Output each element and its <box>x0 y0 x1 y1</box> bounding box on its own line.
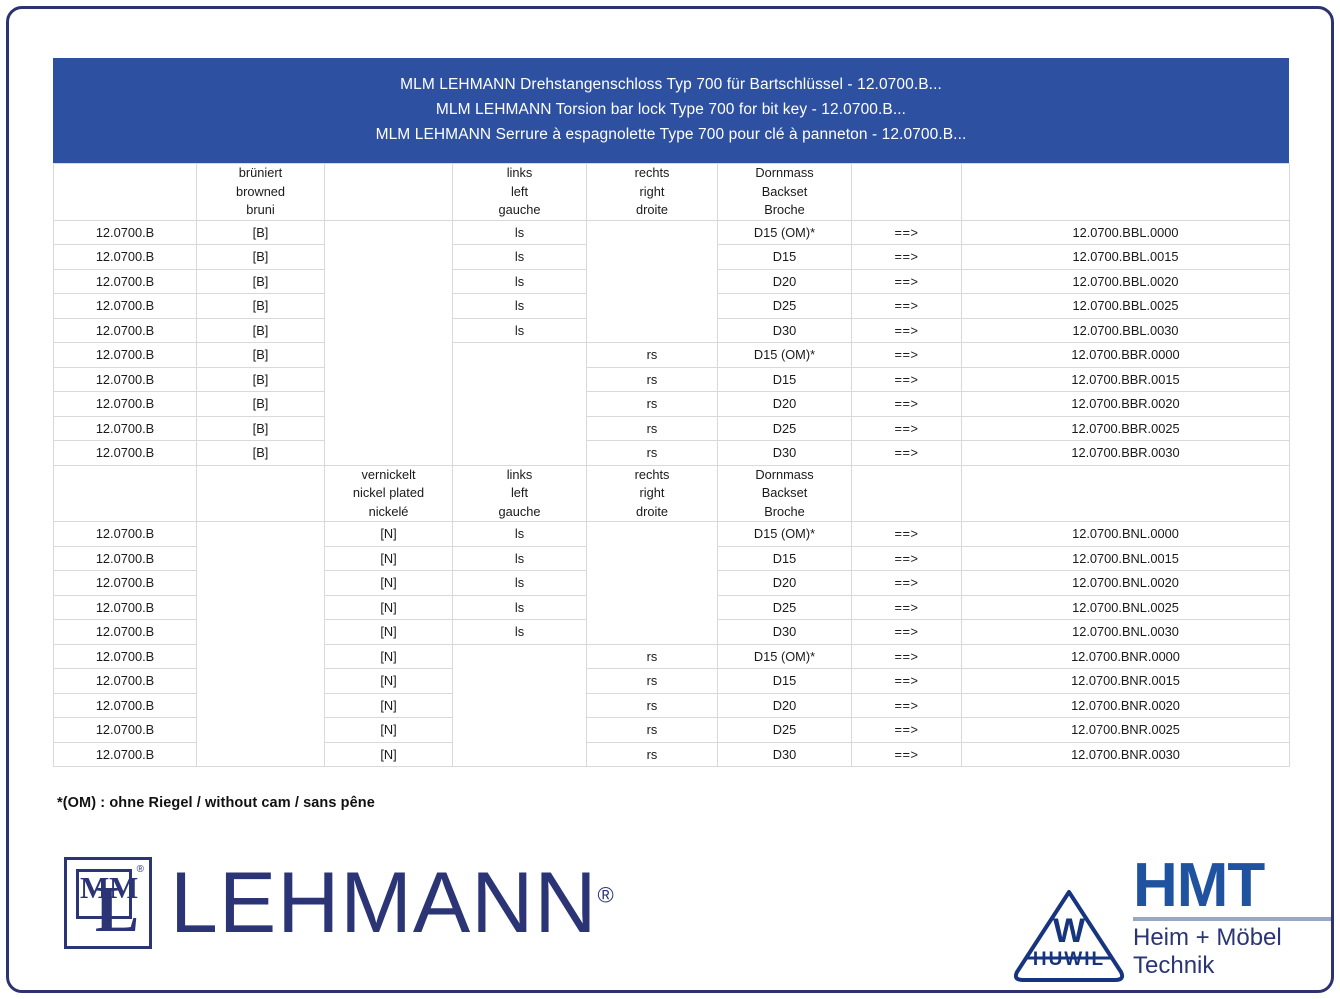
cell-article-number: 12.0700.BBR.0025 <box>962 416 1290 441</box>
cell-backset: D15 <box>718 546 852 571</box>
band-right-en: right <box>587 484 717 503</box>
cell-hand-right: rs <box>587 416 718 441</box>
table-row: 12.0700.B[B]rsD15==>12.0700.BBR.0015 <box>54 367 1290 392</box>
cell-article-number: 12.0700.BNR.0000 <box>962 644 1290 669</box>
cell-finish-code: [N] <box>325 571 453 596</box>
cell-backset: D15 <box>718 367 852 392</box>
cell-article-number: 12.0700.BNR.0020 <box>962 693 1290 718</box>
table-row: 12.0700.B[B]rsD20==>12.0700.BBR.0020 <box>54 392 1290 417</box>
cell-article-number: 12.0700.BBR.0015 <box>962 367 1290 392</box>
cell-base-code: 12.0700.B <box>54 220 197 245</box>
cell-hand-left: ls <box>453 294 587 319</box>
cell-article-number: 12.0700.BNL.0015 <box>962 546 1290 571</box>
cell-hand-left: ls <box>453 269 587 294</box>
cell-article-number: 12.0700.BNL.0020 <box>962 571 1290 596</box>
datasheet: MLM LEHMANN Drehstangenschloss Typ 700 f… <box>53 58 1289 767</box>
band-right-de: rechts <box>587 164 717 183</box>
cell-backset: D25 <box>718 595 852 620</box>
cell-base-code: 12.0700.B <box>54 245 197 270</box>
goto-arrow-button[interactable]: ==> <box>852 441 962 466</box>
band-empty-arrow <box>852 465 962 522</box>
huwil-w-letter: W <box>1009 914 1129 948</box>
product-variant-table: brüniertbrownedbrunilinksleftgaucherecht… <box>53 163 1290 767</box>
cell-hand-right: rs <box>587 742 718 767</box>
cell-finish-code: [N] <box>325 595 453 620</box>
cell-article-number: 12.0700.BBR.0020 <box>962 392 1290 417</box>
band-finish-nickel-fr: nickelé <box>325 503 452 522</box>
table-row: 12.0700.B[B]rsD25==>12.0700.BBR.0025 <box>54 416 1290 441</box>
cell-finish-code: [B] <box>197 441 325 466</box>
cell-hand-right: rs <box>587 693 718 718</box>
cell-base-code: 12.0700.B <box>54 595 197 620</box>
table-row: 12.0700.B[N]lsD15 (OM)*==>12.0700.BNL.00… <box>54 522 1290 547</box>
cell-base-code: 12.0700.B <box>54 392 197 417</box>
cell-base-code: 12.0700.B <box>54 269 197 294</box>
cell-base-code: 12.0700.B <box>54 546 197 571</box>
cell-article-number: 12.0700.BNL.0000 <box>962 522 1290 547</box>
cell-hand-left: ls <box>453 546 587 571</box>
cell-finish-code: [B] <box>197 416 325 441</box>
cell-backset: D30 <box>718 441 852 466</box>
cell-hand-right-empty-block <box>587 522 718 645</box>
cell-finish-empty-block <box>197 522 325 767</box>
band-finish-nickel-de: vernickelt <box>325 466 452 485</box>
cell-hand-left: ls <box>453 595 587 620</box>
title-banner: MLM LEHMANN Drehstangenschloss Typ 700 f… <box>53 58 1289 163</box>
goto-arrow-button[interactable]: ==> <box>852 571 962 596</box>
band-backset-fr: Broche <box>718 503 851 522</box>
cell-backset: D20 <box>718 392 852 417</box>
band-right-en: right <box>587 183 717 202</box>
cell-hand-left: ls <box>453 245 587 270</box>
cell-finish-code: [N] <box>325 718 453 743</box>
cell-article-number: 12.0700.BNR.0025 <box>962 718 1290 743</box>
cell-hand-left-empty-block <box>453 343 587 466</box>
cell-hand-right: rs <box>587 669 718 694</box>
cell-article-number: 12.0700.BBR.0000 <box>962 343 1290 368</box>
cell-backset: D25 <box>718 416 852 441</box>
monogram-registered-icon: ® <box>137 864 144 875</box>
cell-base-code: 12.0700.B <box>54 416 197 441</box>
cell-finish-code: [B] <box>197 220 325 245</box>
lehmann-wordmark-text: LEHMANN <box>170 855 598 951</box>
cell-base-code: 12.0700.B <box>54 693 197 718</box>
cell-finish-code: [B] <box>197 392 325 417</box>
section-header-nickel: vernickeltnickel platednickelélinksleftg… <box>54 465 1290 522</box>
band-left: linksleftgauche <box>453 164 587 221</box>
band-left-fr: gauche <box>453 201 586 220</box>
goto-arrow-button[interactable]: ==> <box>852 693 962 718</box>
band-right: rechtsrightdroite <box>587 465 718 522</box>
cell-hand-right: rs <box>587 718 718 743</box>
cell-article-number: 12.0700.BBR.0030 <box>962 441 1290 466</box>
cell-backset: D30 <box>718 742 852 767</box>
cell-article-number: 12.0700.BBL.0025 <box>962 294 1290 319</box>
section-header-browned: brüniertbrownedbrunilinksleftgaucherecht… <box>54 164 1290 221</box>
band-backset-en: Backset <box>718 484 851 503</box>
goto-arrow-button[interactable]: ==> <box>852 718 962 743</box>
cell-hand-right: rs <box>587 644 718 669</box>
band-empty-base <box>54 164 197 221</box>
cell-base-code: 12.0700.B <box>54 367 197 392</box>
mlm-monogram-icon: M M L ® <box>64 857 152 949</box>
cell-finish-empty-block <box>325 220 453 465</box>
band-right: rechtsrightdroite <box>587 164 718 221</box>
table-row: 12.0700.B[B]rsD15 (OM)*==>12.0700.BBR.00… <box>54 343 1290 368</box>
band-left-de: links <box>453 466 586 485</box>
band-finish-browned-de: brüniert <box>197 164 324 183</box>
monogram-l-center: L <box>95 879 139 941</box>
title-line-en: MLM LEHMANN Torsion bar lock Type 700 fo… <box>54 97 1288 122</box>
band-left-en: left <box>453 484 586 503</box>
goto-arrow-button[interactable]: ==> <box>852 220 962 245</box>
table-row: 12.0700.B[B]rsD30==>12.0700.BBR.0030 <box>54 441 1290 466</box>
goto-arrow-button[interactable]: ==> <box>852 367 962 392</box>
cell-article-number: 12.0700.BNL.0025 <box>962 595 1290 620</box>
cell-hand-right: rs <box>587 367 718 392</box>
goto-arrow-button[interactable]: ==> <box>852 392 962 417</box>
cell-hand-right: rs <box>587 343 718 368</box>
cell-hand-left: ls <box>453 522 587 547</box>
goto-arrow-button[interactable]: ==> <box>852 294 962 319</box>
goto-arrow-button[interactable]: ==> <box>852 546 962 571</box>
cell-backset: D15 (OM)* <box>718 644 852 669</box>
goto-arrow-button[interactable]: ==> <box>852 343 962 368</box>
cell-hand-right: rs <box>587 441 718 466</box>
cell-base-code: 12.0700.B <box>54 718 197 743</box>
cell-finish-code: [B] <box>197 318 325 343</box>
goto-arrow-button[interactable]: ==> <box>852 522 962 547</box>
band-left-en: left <box>453 183 586 202</box>
cell-base-code: 12.0700.B <box>54 441 197 466</box>
cell-hand-right-empty-block <box>587 220 718 343</box>
band-left: linksleftgauche <box>453 465 587 522</box>
cell-backset: D30 <box>718 318 852 343</box>
cell-finish-code: [N] <box>325 546 453 571</box>
cell-article-number: 12.0700.BNR.0030 <box>962 742 1290 767</box>
cell-base-code: 12.0700.B <box>54 571 197 596</box>
goto-arrow-button[interactable]: ==> <box>852 669 962 694</box>
goto-arrow-button[interactable]: ==> <box>852 595 962 620</box>
band-left-fr: gauche <box>453 503 586 522</box>
page-frame: MLM LEHMANN Drehstangenschloss Typ 700 f… <box>6 6 1334 993</box>
cell-hand-left: ls <box>453 571 587 596</box>
cell-backset: D15 (OM)* <box>718 522 852 547</box>
cell-finish-code: [B] <box>197 245 325 270</box>
band-finish-browned-fr: bruni <box>197 201 324 220</box>
hmt-text-block: HMT Heim + Möbel Technik <box>1133 857 1331 984</box>
band-finish-browned: brüniertbrownedbruni <box>197 164 325 221</box>
cell-base-code: 12.0700.B <box>54 343 197 368</box>
cell-hand-left-empty-block <box>453 644 587 767</box>
cell-finish-code: [B] <box>197 269 325 294</box>
band-empty-alt <box>325 164 453 221</box>
hmt-tagline: Heim + Möbel Technik <box>1133 924 1331 980</box>
cell-backset: D15 (OM)* <box>718 220 852 245</box>
cell-backset: D25 <box>718 294 852 319</box>
cell-article-number: 12.0700.BBL.0000 <box>962 220 1290 245</box>
band-backset: DornmassBacksetBroche <box>718 465 852 522</box>
goto-arrow-button[interactable]: ==> <box>852 620 962 645</box>
cell-finish-code: [B] <box>197 367 325 392</box>
lehmann-wordmark: LEHMANN® <box>170 860 615 946</box>
cell-hand-left: ls <box>453 318 587 343</box>
goto-arrow-button[interactable]: ==> <box>852 416 962 441</box>
goto-arrow-button[interactable]: ==> <box>852 245 962 270</box>
band-empty-article <box>962 465 1290 522</box>
cell-finish-code: [N] <box>325 693 453 718</box>
hmt-wordmark: HMT <box>1133 857 1331 915</box>
cell-base-code: 12.0700.B <box>54 742 197 767</box>
band-backset-en: Backset <box>718 183 851 202</box>
band-empty-arrow <box>852 164 962 221</box>
cell-article-number: 12.0700.BBL.0020 <box>962 269 1290 294</box>
title-line-de: MLM LEHMANN Drehstangenschloss Typ 700 f… <box>54 72 1288 97</box>
cell-hand-left: ls <box>453 620 587 645</box>
goto-arrow-button[interactable]: ==> <box>852 644 962 669</box>
huwil-wordmark: HUWIL <box>1009 949 1129 971</box>
band-backset-fr: Broche <box>718 201 851 220</box>
cell-finish-code: [B] <box>197 294 325 319</box>
band-empty-alt <box>197 465 325 522</box>
cell-backset: D20 <box>718 269 852 294</box>
cell-backset: D20 <box>718 693 852 718</box>
lehmann-logo: M M L ® LEHMANN® <box>64 857 615 949</box>
table-row: 12.0700.B[B]lsD15 (OM)*==>12.0700.BBL.00… <box>54 220 1290 245</box>
band-backset-de: Dornmass <box>718 164 851 183</box>
cell-backset: D15 <box>718 669 852 694</box>
band-backset: DornmassBacksetBroche <box>718 164 852 221</box>
cell-backset: D20 <box>718 571 852 596</box>
band-left-de: links <box>453 164 586 183</box>
cell-hand-left: ls <box>453 220 587 245</box>
band-finish-nickel: vernickeltnickel platednickelé <box>325 465 453 522</box>
band-finish-nickel-en: nickel plated <box>325 484 452 503</box>
cell-finish-code: [B] <box>197 343 325 368</box>
cell-base-code: 12.0700.B <box>54 620 197 645</box>
footnote-om: *(OM) : ohne Riegel / without cam / sans… <box>57 795 375 811</box>
band-right-fr: droite <box>587 201 717 220</box>
cell-base-code: 12.0700.B <box>54 644 197 669</box>
cell-finish-code: [N] <box>325 742 453 767</box>
cell-backset: D25 <box>718 718 852 743</box>
goto-arrow-button[interactable]: ==> <box>852 269 962 294</box>
cell-article-number: 12.0700.BBL.0015 <box>962 245 1290 270</box>
cell-finish-code: [N] <box>325 669 453 694</box>
cell-backset: D15 <box>718 245 852 270</box>
cell-backset: D15 (OM)* <box>718 343 852 368</box>
title-line-fr: MLM LEHMANN Serrure à espagnolette Type … <box>54 122 1288 147</box>
band-right-de: rechts <box>587 466 717 485</box>
cell-article-number: 12.0700.BNR.0015 <box>962 669 1290 694</box>
band-finish-browned-en: browned <box>197 183 324 202</box>
cell-hand-right: rs <box>587 392 718 417</box>
goto-arrow-button[interactable]: ==> <box>852 742 962 767</box>
huwil-triangle-icon: W HUWIL <box>1009 884 1129 984</box>
cell-finish-code: [N] <box>325 522 453 547</box>
cell-finish-code: [N] <box>325 620 453 645</box>
cell-article-number: 12.0700.BNL.0030 <box>962 620 1290 645</box>
cell-base-code: 12.0700.B <box>54 522 197 547</box>
cell-backset: D30 <box>718 620 852 645</box>
band-empty-base <box>54 465 197 522</box>
cell-base-code: 12.0700.B <box>54 318 197 343</box>
goto-arrow-button[interactable]: ==> <box>852 318 962 343</box>
cell-article-number: 12.0700.BBL.0030 <box>962 318 1290 343</box>
band-right-fr: droite <box>587 503 717 522</box>
cell-base-code: 12.0700.B <box>54 669 197 694</box>
lehmann-registered-icon: ® <box>598 882 615 907</box>
band-backset-de: Dornmass <box>718 466 851 485</box>
cell-base-code: 12.0700.B <box>54 294 197 319</box>
hmt-logo: W HUWIL HMT Heim + Möbel Technik <box>1009 857 1331 984</box>
cell-finish-code: [N] <box>325 644 453 669</box>
band-empty-article <box>962 164 1290 221</box>
